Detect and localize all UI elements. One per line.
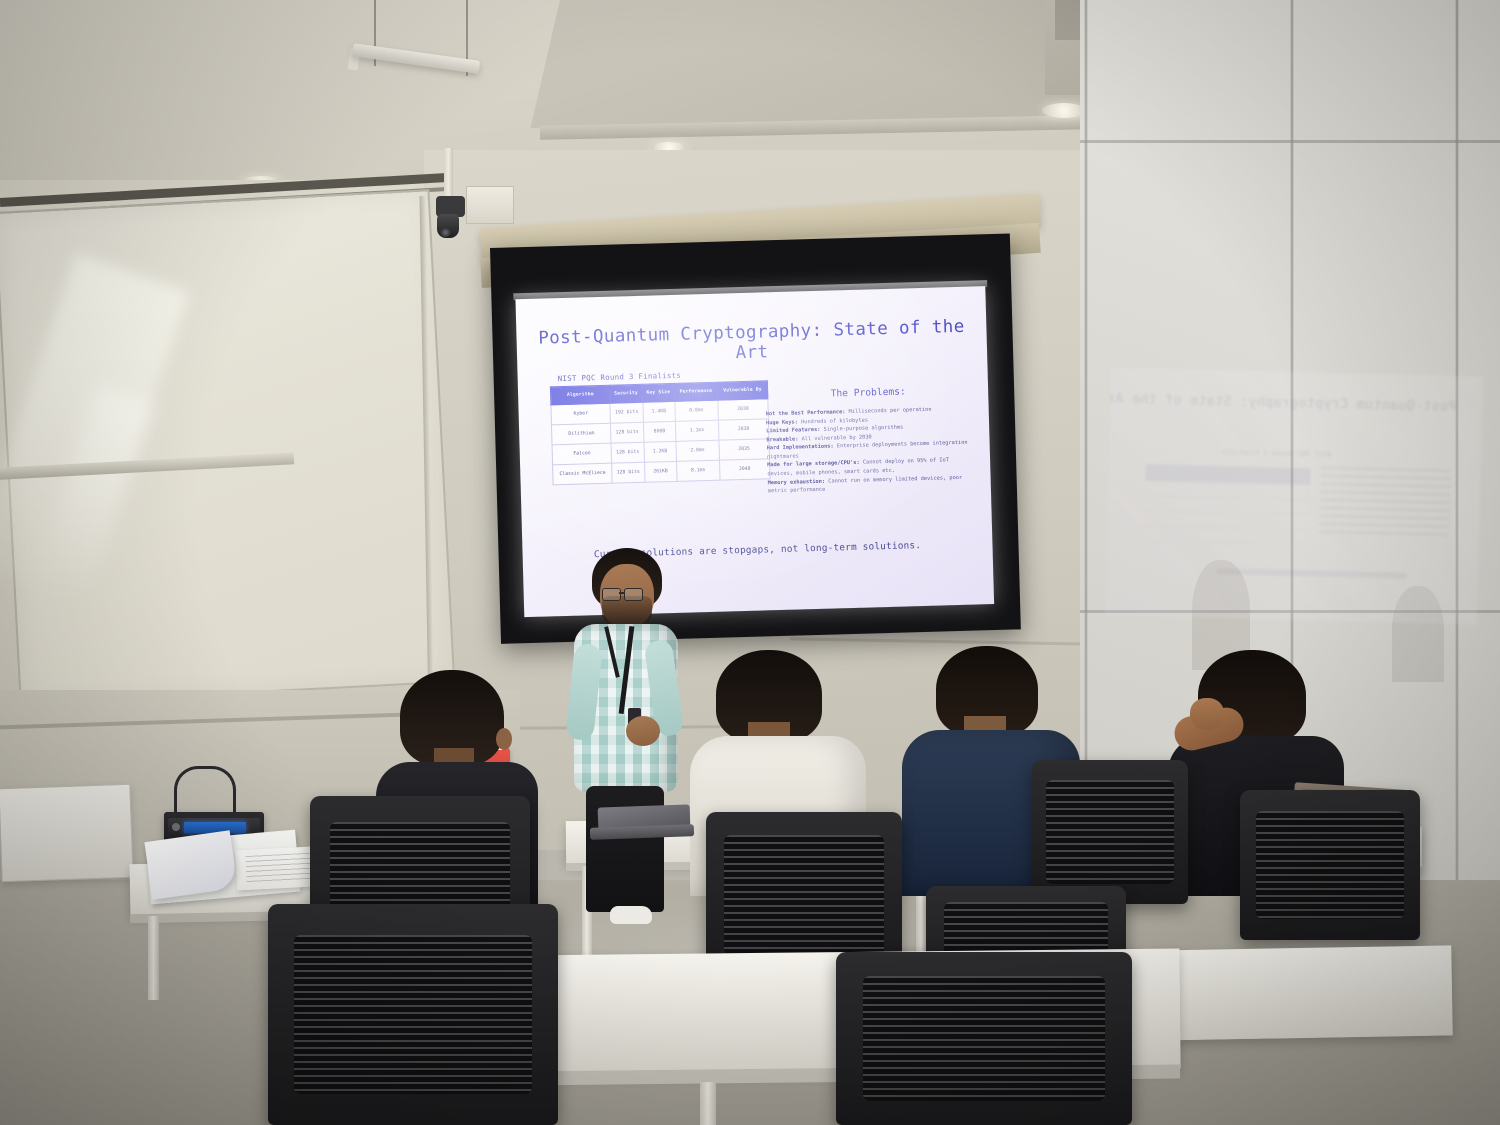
reflection-bottom-line — [1216, 568, 1406, 579]
glasses-left-lens-icon — [602, 588, 621, 601]
table-cell: 1.1ms — [675, 420, 719, 441]
problems-heading: The Problems: — [770, 385, 966, 401]
clasped-hands — [626, 716, 660, 746]
office-chair[interactable] — [1240, 790, 1420, 940]
table-cell: 128 bits — [612, 462, 645, 483]
problem-label: Hard Implementations: — [767, 444, 834, 452]
table-column-header: Algorithm — [550, 385, 610, 405]
desk-leg — [700, 1082, 716, 1125]
table-cell: 1.2KB — [644, 441, 677, 462]
table-cell: 2.0ms — [676, 440, 720, 461]
desk-leg — [148, 916, 159, 1000]
problem-label: Memory exhaustion: — [768, 478, 826, 486]
glass-seam — [1080, 140, 1500, 143]
foreground-desk-right — [1151, 945, 1453, 1040]
camera-wall-plate — [466, 186, 514, 224]
table-cell: 800B — [643, 421, 676, 442]
problems-list: Not the Best Performance: Milliseconds p… — [766, 405, 973, 496]
conference-room-scene: Post-Quantum Cryptography: State of the … — [0, 0, 1500, 1125]
chair-mesh — [863, 976, 1106, 1101]
chair-back — [1032, 760, 1188, 904]
reflection-text-block — [1319, 467, 1451, 542]
reflection-title: Post-Quantum Cryptography: State of the … — [1105, 391, 1456, 415]
camera-glass-icon — [440, 228, 451, 237]
av-device-knob[interactable] — [172, 823, 180, 831]
slide-title: Post-Quantum Cryptography: State of the … — [516, 316, 987, 369]
av-device-handle — [174, 766, 236, 817]
problem-label: Breakable: — [766, 436, 798, 443]
table-cell: 2040 — [719, 459, 770, 480]
desktop-monitor — [0, 784, 134, 883]
shoe — [610, 906, 652, 924]
glasses-right-lens-icon — [624, 588, 643, 601]
office-chair-foreground[interactable] — [268, 904, 558, 1125]
reflection-table-body — [1144, 480, 1310, 546]
chair-back — [1240, 790, 1420, 940]
problem-label: Not the Best Performance: — [766, 409, 846, 417]
table-column-header: Security — [610, 384, 643, 403]
glass-seam — [1084, 0, 1088, 880]
table-cell: 192 bits — [610, 402, 643, 423]
table-cell: Kyber — [551, 403, 611, 425]
chair-mesh — [1256, 811, 1404, 919]
hand — [1190, 698, 1224, 730]
table-cell: 128 bits — [611, 422, 644, 443]
chair-mesh — [294, 935, 532, 1094]
table-cell: 0.8ms — [675, 400, 719, 421]
problem-label: Limited Features: — [766, 427, 820, 435]
table-cell: 1.4KB — [642, 401, 675, 422]
problem-label: Huge Keys: — [766, 419, 798, 426]
table-cell: 2035 — [719, 439, 770, 460]
table-body: Kyber192 bits1.4KB0.8ms2030Dilithium128 … — [551, 399, 770, 485]
table-cell: 8.1ms — [676, 460, 720, 481]
table-column-header: Vulnerable By — [717, 381, 768, 400]
pqc-finalists-table: AlgorithmSecurityKey SizePerformanceVuln… — [550, 380, 771, 485]
table-cell: 2030 — [718, 419, 769, 440]
chair-mesh — [1046, 780, 1174, 884]
problem-label: Made for large storage/CPU's: — [767, 460, 860, 469]
chair-mesh — [724, 835, 885, 955]
slide-reflection: Post-Quantum Cryptography: State of the … — [1105, 367, 1483, 624]
office-chair[interactable] — [1032, 760, 1188, 904]
table-cell: 261KB — [644, 461, 677, 482]
table-cell: Classic McEliece — [553, 463, 613, 485]
presenter — [566, 548, 682, 948]
table-cell: Dilithium — [551, 423, 611, 445]
chair-back — [836, 952, 1132, 1125]
table-column-header: Key Size — [642, 383, 675, 402]
table-cell: 2030 — [718, 399, 769, 420]
glasses-bridge-icon — [619, 592, 625, 594]
slide-table-caption: NIST PQC Round 3 Finalists — [558, 371, 682, 383]
table-cell: 128 bits — [611, 442, 644, 463]
reflection-caption: NIST PQC Round 3 Finalists — [1221, 448, 1331, 459]
ceiling-recess — [530, 0, 1120, 128]
office-chair-foreground[interactable] — [836, 952, 1132, 1125]
table-cell: Falcon — [552, 443, 612, 465]
whiteboard — [0, 189, 455, 705]
table-column-header: Performance — [674, 382, 717, 401]
ear — [496, 728, 512, 750]
chair-back — [268, 904, 558, 1125]
